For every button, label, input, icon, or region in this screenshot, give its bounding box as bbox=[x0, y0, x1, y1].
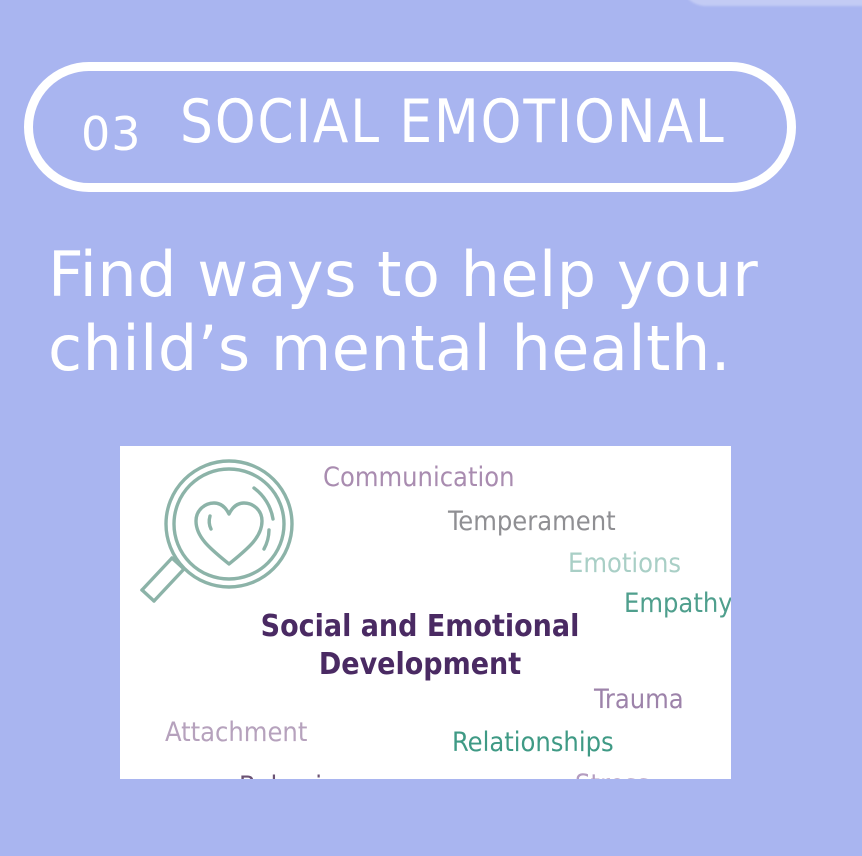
word-attachment: Attachment bbox=[165, 719, 307, 746]
headline-line-2: child’s mental health. bbox=[48, 312, 748, 386]
headline-line-1: Find ways to help your bbox=[48, 238, 748, 312]
card-title-line-1: Social and Emotional bbox=[250, 608, 590, 646]
word-relationships: Relationships bbox=[452, 729, 614, 756]
word-behavior: Behavior bbox=[239, 773, 347, 779]
word-stress: Stress bbox=[575, 771, 650, 779]
word-cloud-card: Social and Emotional Development Communi… bbox=[120, 446, 731, 779]
card-title-line-2: Development bbox=[250, 646, 590, 684]
top-edge-notch bbox=[680, 0, 862, 6]
slide-canvas: 03 SOCIAL EMOTIONAL Find ways to help yo… bbox=[0, 0, 862, 856]
headline: Find ways to help your child’s mental he… bbox=[48, 238, 748, 387]
word-trauma: Trauma bbox=[594, 686, 684, 713]
word-temperament: Temperament bbox=[448, 508, 616, 535]
card-title: Social and Emotional Development bbox=[250, 608, 590, 685]
section-pill: 03 SOCIAL EMOTIONAL bbox=[24, 62, 796, 192]
word-communication: Communication bbox=[323, 464, 514, 491]
word-emotions: Emotions bbox=[568, 550, 681, 577]
word-empathy: Empathy bbox=[624, 590, 731, 617]
section-title: SOCIAL EMOTIONAL bbox=[180, 92, 726, 152]
magnifier-heart-icon bbox=[126, 452, 316, 632]
section-number: 03 bbox=[81, 111, 142, 157]
